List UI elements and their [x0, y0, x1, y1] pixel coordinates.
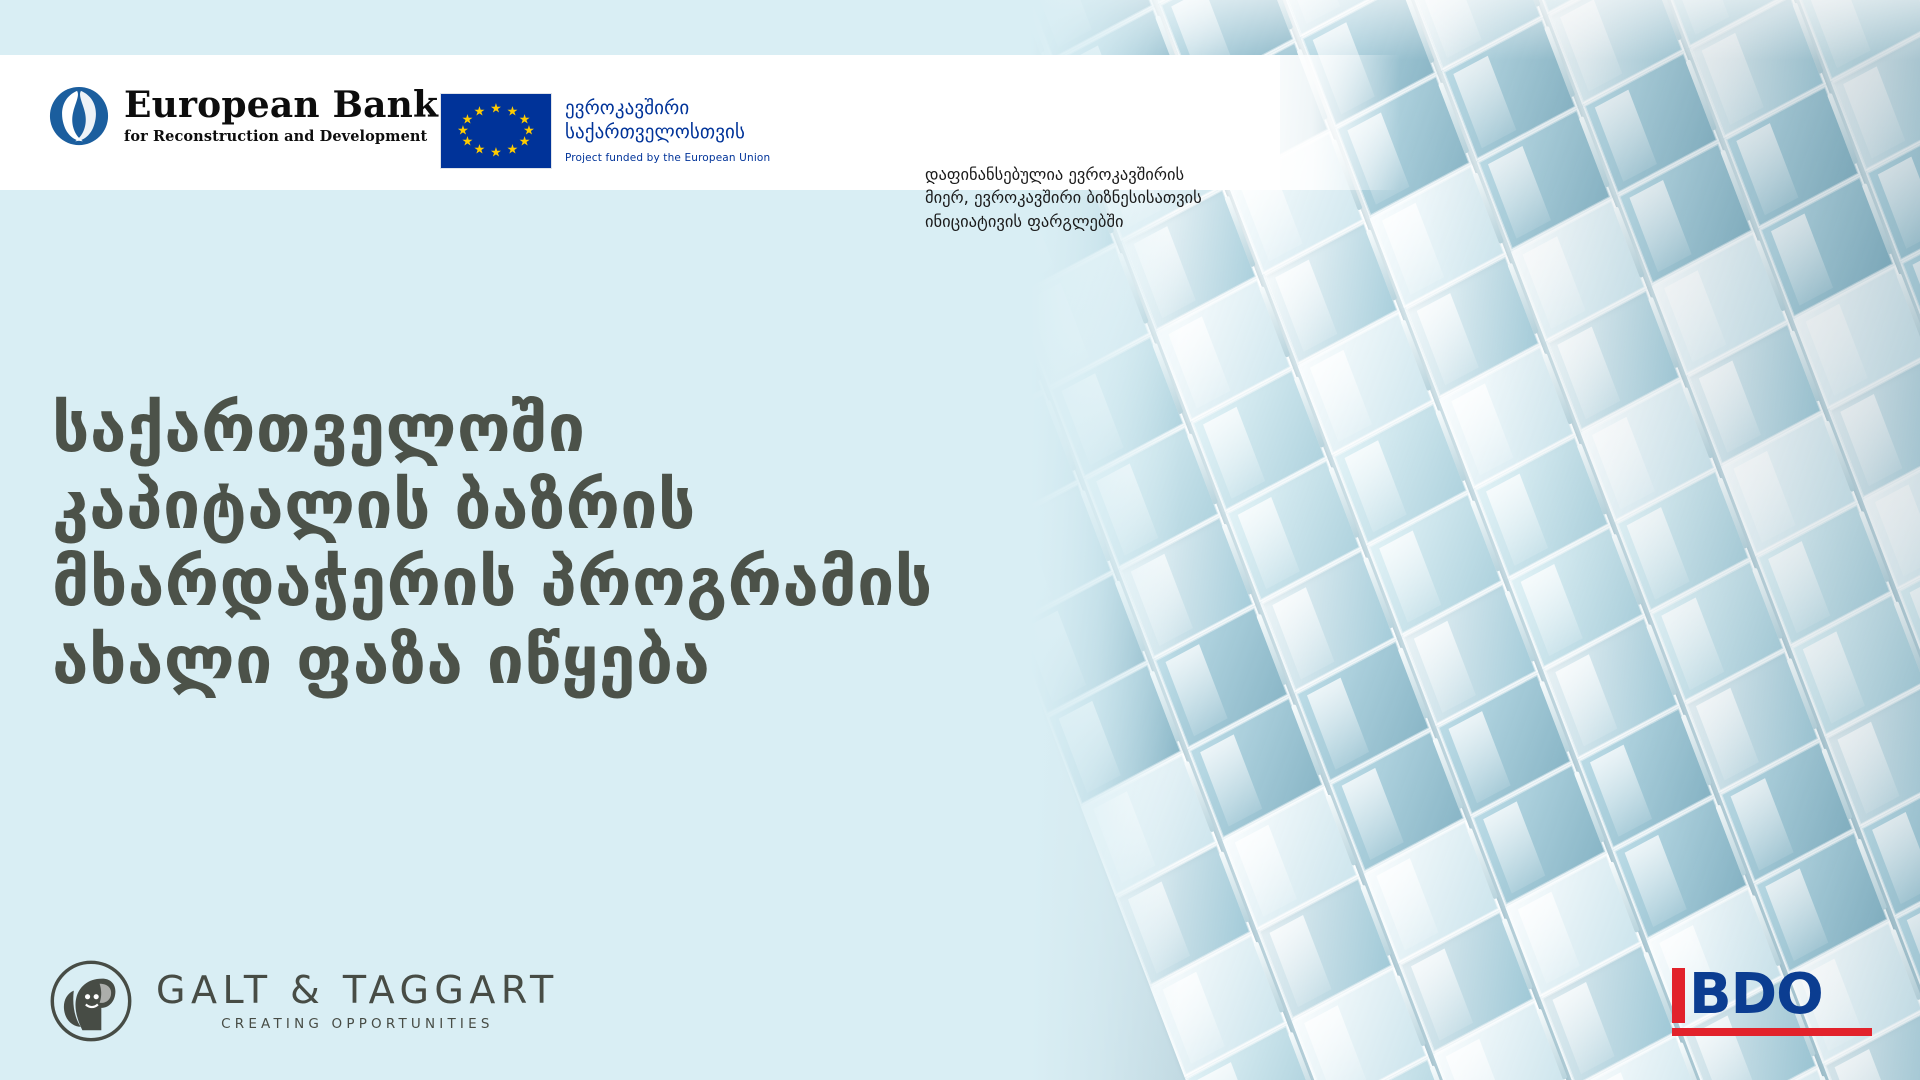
eu-flag-icon: ★★★★★★★★★★★★ — [440, 93, 552, 169]
eu-star: ★ — [490, 147, 502, 160]
eu-star: ★ — [474, 105, 486, 118]
slide-canvas: European Bank for Reconstruction and Dev… — [0, 0, 1920, 1080]
eu-funding-caption: Project funded by the European Union — [565, 152, 770, 164]
headline-line-1: საქართველოში — [52, 390, 933, 467]
eu-star: ★ — [474, 144, 486, 157]
galt-taggart-logo: GALT & TAGGART CREATING OPPORTUNITIES — [48, 958, 559, 1044]
funding-disclaimer: დაფინანსებულია ევროკავშირის მიერ, ევროკა… — [925, 163, 1202, 233]
ram-head-logo-icon — [48, 958, 134, 1044]
bdo-name: BDO — [1689, 968, 1823, 1023]
bdo-red-accent-bar — [1672, 968, 1685, 1023]
ebrd-name: European Bank — [124, 87, 438, 123]
headline-line-2: კაპიტალის ბაზრის — [52, 467, 933, 544]
bdo-logo: BDO — [1672, 968, 1872, 1036]
eu-line-1: ევროკავშირი — [565, 96, 770, 120]
galt-taggart-tagline: CREATING OPPORTUNITIES — [221, 1018, 493, 1032]
eu-line-2: საქართველოსთვის — [565, 120, 770, 144]
eu-star: ★ — [507, 105, 519, 118]
bdo-red-underline — [1672, 1028, 1872, 1036]
ebrd-logo: European Bank for Reconstruction and Dev… — [48, 85, 438, 147]
funding-line-1: დაფინანსებულია ევროკავშირის — [925, 163, 1202, 186]
funding-line-3: ინიციატივის ფარგლებში — [925, 210, 1202, 233]
eu-star: ★ — [507, 144, 519, 157]
galt-taggart-name: GALT & TAGGART — [156, 971, 559, 1009]
ebrd-subtitle: for Reconstruction and Development — [124, 130, 438, 145]
page-title: საქართველოში კაპიტალის ბაზრის მხარდაჭერი… — [52, 390, 933, 699]
eu-star: ★ — [490, 102, 502, 115]
eu-star: ★ — [519, 136, 531, 149]
ebrd-logo-icon — [48, 85, 110, 147]
eu-star: ★ — [462, 113, 474, 126]
headline-line-3: მხარდაჭერის პროგრამის — [52, 544, 933, 621]
eu-logo-block: ★★★★★★★★★★★★ ევროკავშირი საქართველოსთვის… — [440, 93, 770, 169]
headline-line-4: ახალი ფაზა იწყება — [52, 622, 933, 699]
header-right-fade — [1240, 55, 1400, 190]
funding-line-2: მიერ, ევროკავშირი ბიზნესისათვის — [925, 186, 1202, 209]
logo-header-band: European Bank for Reconstruction and Dev… — [0, 55, 1280, 190]
